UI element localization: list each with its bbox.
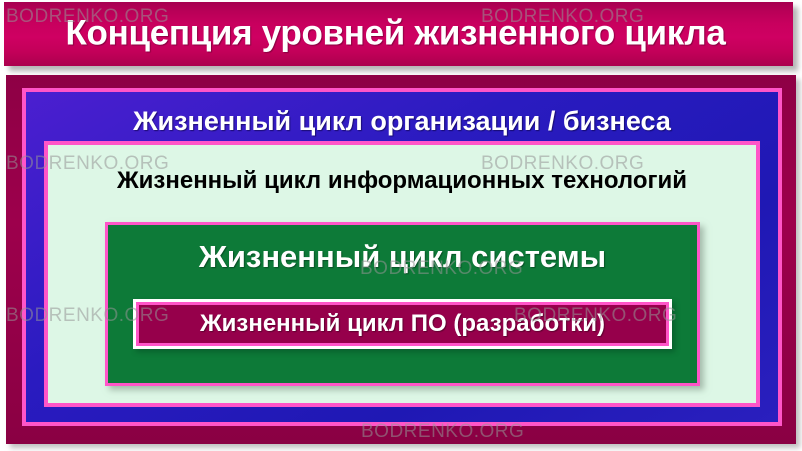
level-software-panel: Жизненный цикл ПО (разработки) <box>136 302 669 346</box>
level-system-label: Жизненный цикл системы <box>108 239 697 275</box>
level-information-technology-label: Жизненный цикл информационных технологий <box>48 167 756 195</box>
slide-canvas: Концепция уровней жизненного цикла Жизне… <box>0 0 802 451</box>
level-organization-label: Жизненный цикл организации / бизнеса <box>26 106 778 137</box>
slide-title-banner: Концепция уровней жизненного цикла <box>4 2 793 66</box>
page-title: Концепция уровней жизненного цикла <box>4 16 793 53</box>
level-software-label: Жизненный цикл ПО (разработки) <box>139 310 666 338</box>
level-software-plate: Жизненный цикл ПО (разработки) <box>133 299 672 349</box>
